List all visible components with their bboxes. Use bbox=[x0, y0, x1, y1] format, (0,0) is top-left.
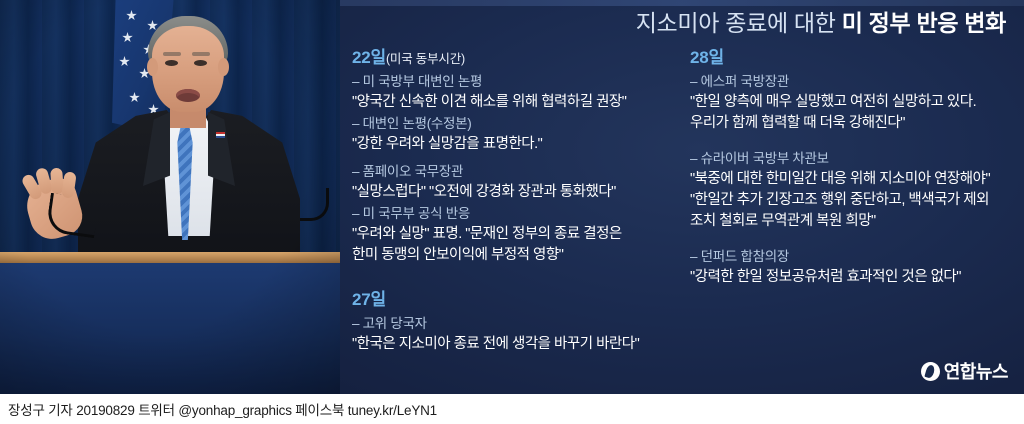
timeline-block-22: 22일(미국 동부시간) – 미 국방부 대변인 논평 "양국간 신속한 이견 … bbox=[352, 46, 672, 266]
ear-right bbox=[218, 58, 229, 76]
infographic-root: DEPARTMENT OF STATE UNITED STATES OF AME… bbox=[0, 0, 1024, 424]
header-accent-band bbox=[340, 0, 1024, 6]
day-note: (미국 동부시간) bbox=[386, 52, 465, 66]
footer-credit: 장성구 기자 20190829 트위터 @yonhap_graphics 페이스… bbox=[0, 399, 437, 419]
entry-source: – 미 국방부 대변인 논평 bbox=[352, 71, 672, 92]
entry-quote: 우리가 함께 협력할 때 더욱 강해진다" bbox=[690, 113, 1018, 134]
spacer bbox=[352, 270, 672, 288]
timeline-column-left: 22일(미국 동부시간) – 미 국방부 대변인 논평 "양국간 신속한 이견 … bbox=[352, 46, 672, 359]
spacer bbox=[690, 232, 1018, 246]
eyebrow-right bbox=[192, 52, 210, 56]
eye-left bbox=[165, 60, 178, 66]
yonhap-logo-mark-icon bbox=[921, 362, 940, 381]
entry-source: – 슈라이버 국방부 차관보 bbox=[690, 148, 1018, 169]
entry-source: – 고위 당국자 bbox=[352, 313, 672, 334]
entry-quote: "한국은 지소미아 종료 전에 생각을 바꾸기 바란다" bbox=[352, 334, 672, 355]
entry-source: – 미 국무부 공식 반응 bbox=[352, 203, 672, 224]
entry-source: – 던퍼드 합참의장 bbox=[690, 246, 1018, 267]
title-normal: 지소미아 종료에 대한 bbox=[636, 10, 842, 36]
entry-quote: "북중에 대한 한미일간 대응 위해 지소미아 연장해야" bbox=[690, 169, 1018, 190]
title-strong: 미 정부 반응 변화 bbox=[842, 10, 1006, 36]
eye-right bbox=[194, 60, 207, 66]
entry-source: – 에스퍼 국방장관 bbox=[690, 71, 1018, 92]
entry-source: – 대변인 논평(수정본) bbox=[352, 113, 672, 134]
footer-bar: 장성구 기자 20190829 트위터 @yonhap_graphics 페이스… bbox=[0, 394, 1024, 424]
entry-quote: "한일간 추가 긴장고조 행위 중단하고, 백색국가 제외 bbox=[690, 190, 1018, 211]
timeline-column-right: 28일 – 에스퍼 국방장관 "한일 양측에 매우 실망했고 여전히 실망하고 … bbox=[690, 46, 1018, 292]
main-panel: DEPARTMENT OF STATE UNITED STATES OF AME… bbox=[0, 0, 1024, 394]
day-heading: 28일 bbox=[690, 46, 1018, 71]
day-label: 28일 bbox=[690, 48, 724, 67]
yonhap-logo-text: 연합뉴스 bbox=[944, 358, 1008, 384]
page-title: 지소미아 종료에 대한 미 정부 반응 변화 bbox=[636, 8, 1006, 38]
entry-quote: 조치 철회로 무역관계 복원 희망" bbox=[690, 211, 1018, 232]
entry-quote: "강력한 한일 정보공유처럼 효과적인 것은 없다" bbox=[690, 267, 1018, 288]
day-label: 27일 bbox=[352, 290, 386, 309]
entry-quote: "양국간 신속한 이견 해소를 위해 협력하길 권장" bbox=[352, 92, 672, 113]
flag-lapel-pin bbox=[216, 132, 225, 138]
entry-quote: "우려와 실망" 표명. "문재인 정부의 종료 결정은 bbox=[352, 224, 672, 245]
pompeo-photo: DEPARTMENT OF STATE UNITED STATES OF AME… bbox=[0, 0, 340, 394]
day-heading: 22일(미국 동부시간) bbox=[352, 46, 672, 71]
mouth bbox=[176, 89, 200, 102]
eyebrow-left bbox=[163, 52, 181, 56]
timeline-block-28: 28일 – 에스퍼 국방장관 "한일 양측에 매우 실망했고 여전히 실망하고 … bbox=[690, 46, 1018, 288]
day-heading: 27일 bbox=[352, 288, 672, 313]
entry-quote: "실망스럽다" "오전에 강경화 장관과 통화했다" bbox=[352, 182, 672, 203]
podium: DEPARTMENT OF STATE UNITED STATES OF AME… bbox=[0, 263, 340, 394]
day-label: 22일 bbox=[352, 48, 386, 67]
timeline-block-27: 27일 – 고위 당국자 "한국은 지소미아 종료 전에 생각을 바꾸기 바란다… bbox=[352, 288, 672, 355]
entry-quote: "강한 우려와 실망감을 표명한다." bbox=[352, 134, 672, 155]
entry-source: – 폼페이오 국무장관 bbox=[352, 161, 672, 182]
entry-quote: 한미 동맹의 안보이익에 부정적 영향" bbox=[352, 245, 672, 266]
yonhap-news-logo: 연합뉴스 bbox=[921, 358, 1008, 384]
entry-quote: "한일 양측에 매우 실망했고 여전히 실망하고 있다. bbox=[690, 92, 1018, 113]
ear-left bbox=[147, 58, 158, 76]
spacer bbox=[690, 134, 1018, 148]
